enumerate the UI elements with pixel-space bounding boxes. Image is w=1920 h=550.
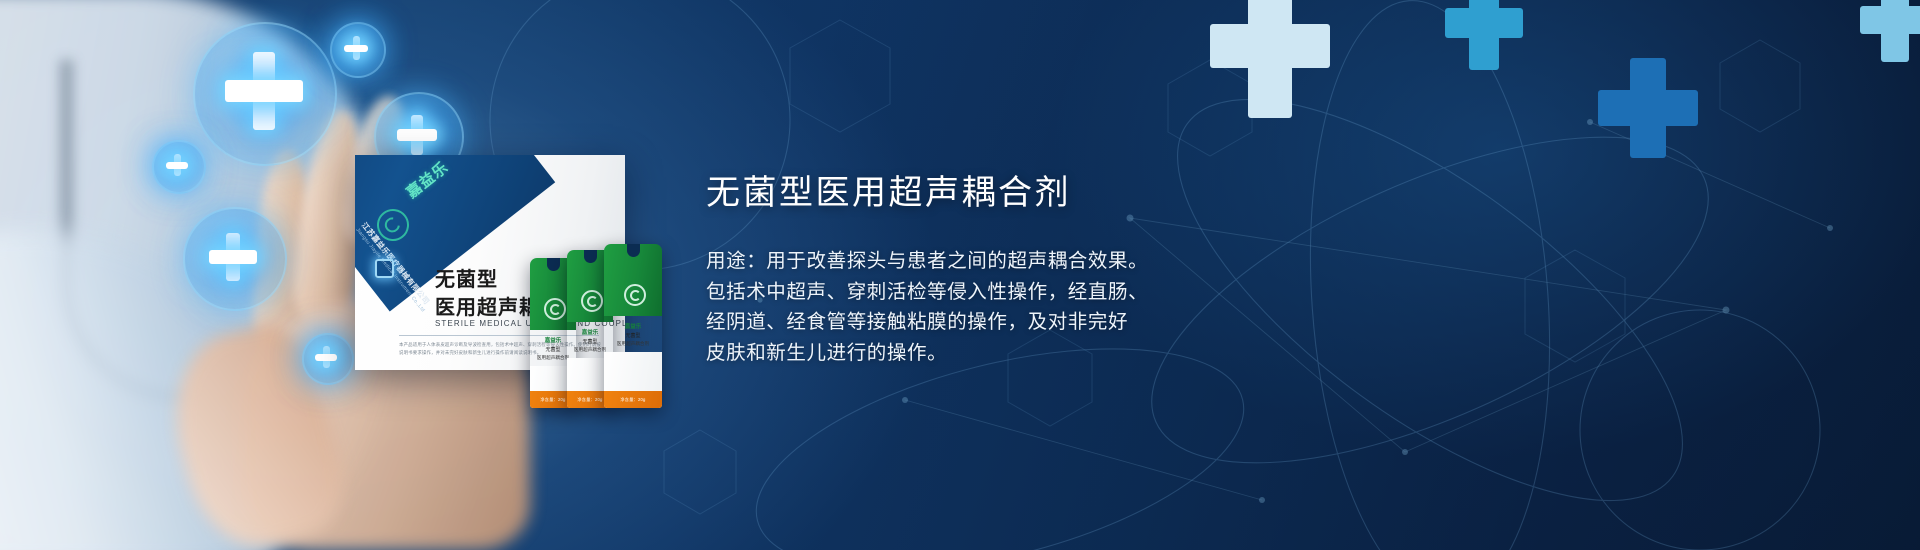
sachet-logo-icon — [581, 290, 603, 312]
description-line: 皮肤和新生儿进行的操作。 — [706, 338, 1406, 369]
sachet-logo-icon — [544, 298, 566, 320]
sachet-line2: 医用超声耦合剂 — [604, 341, 662, 347]
sachet-notch — [584, 250, 597, 263]
sachet-notch — [547, 258, 560, 271]
cross-flat-far-right — [1598, 58, 1698, 158]
cross-glow-large — [225, 52, 303, 130]
description-line: 用途：用于改善探头与患者之间的超声耦合效果。 — [706, 246, 1406, 277]
cross-glow-lower-left — [209, 233, 257, 281]
sachet-brand: 嘉益乐 — [604, 322, 662, 330]
sachet-footer-text: 净含量：20g — [604, 391, 662, 408]
cross-glow-small-top — [344, 36, 368, 60]
product-banner: 嘉益乐 江苏嘉益乐医疗器械有限公司 Jiangsu Jiayile Medica… — [0, 0, 1920, 550]
sachet-line1: 无菌型 — [604, 332, 662, 339]
cross-glow-mid — [397, 115, 437, 155]
cross-glow-bottom — [315, 346, 337, 368]
description-line: 包括术中超声、穿刺活检等侵入性操作，经直肠、 — [706, 277, 1406, 308]
sachet-logo-icon — [624, 284, 646, 306]
description-line: 经阴道、经食管等接触粘膜的操作，及对非完好 — [706, 307, 1406, 338]
banner-text-block: 无菌型医用超声耦合剂 用途：用于改善探头与患者之间的超声耦合效果。 包括术中超声… — [706, 176, 1406, 368]
banner-description: 用途：用于改善探头与患者之间的超声耦合效果。 包括术中超声、穿刺活检等侵入性操作… — [706, 246, 1406, 368]
box-product-name-line1: 无菌型 — [435, 263, 498, 292]
cross-flat-small-right — [1860, 0, 1920, 62]
sachet-footer: 净含量：20g — [604, 391, 662, 408]
box-glow-icon — [375, 259, 394, 278]
cross-glow-left — [166, 154, 188, 176]
cross-flat-top-right — [1210, 0, 1330, 118]
sachet-notch — [627, 244, 640, 257]
banner-title: 无菌型医用超声耦合剂 — [706, 176, 1406, 210]
sachet: 嘉益乐 无菌型 医用超声耦合剂 净含量：20g — [604, 244, 662, 408]
cross-flat-right — [1445, 0, 1523, 70]
